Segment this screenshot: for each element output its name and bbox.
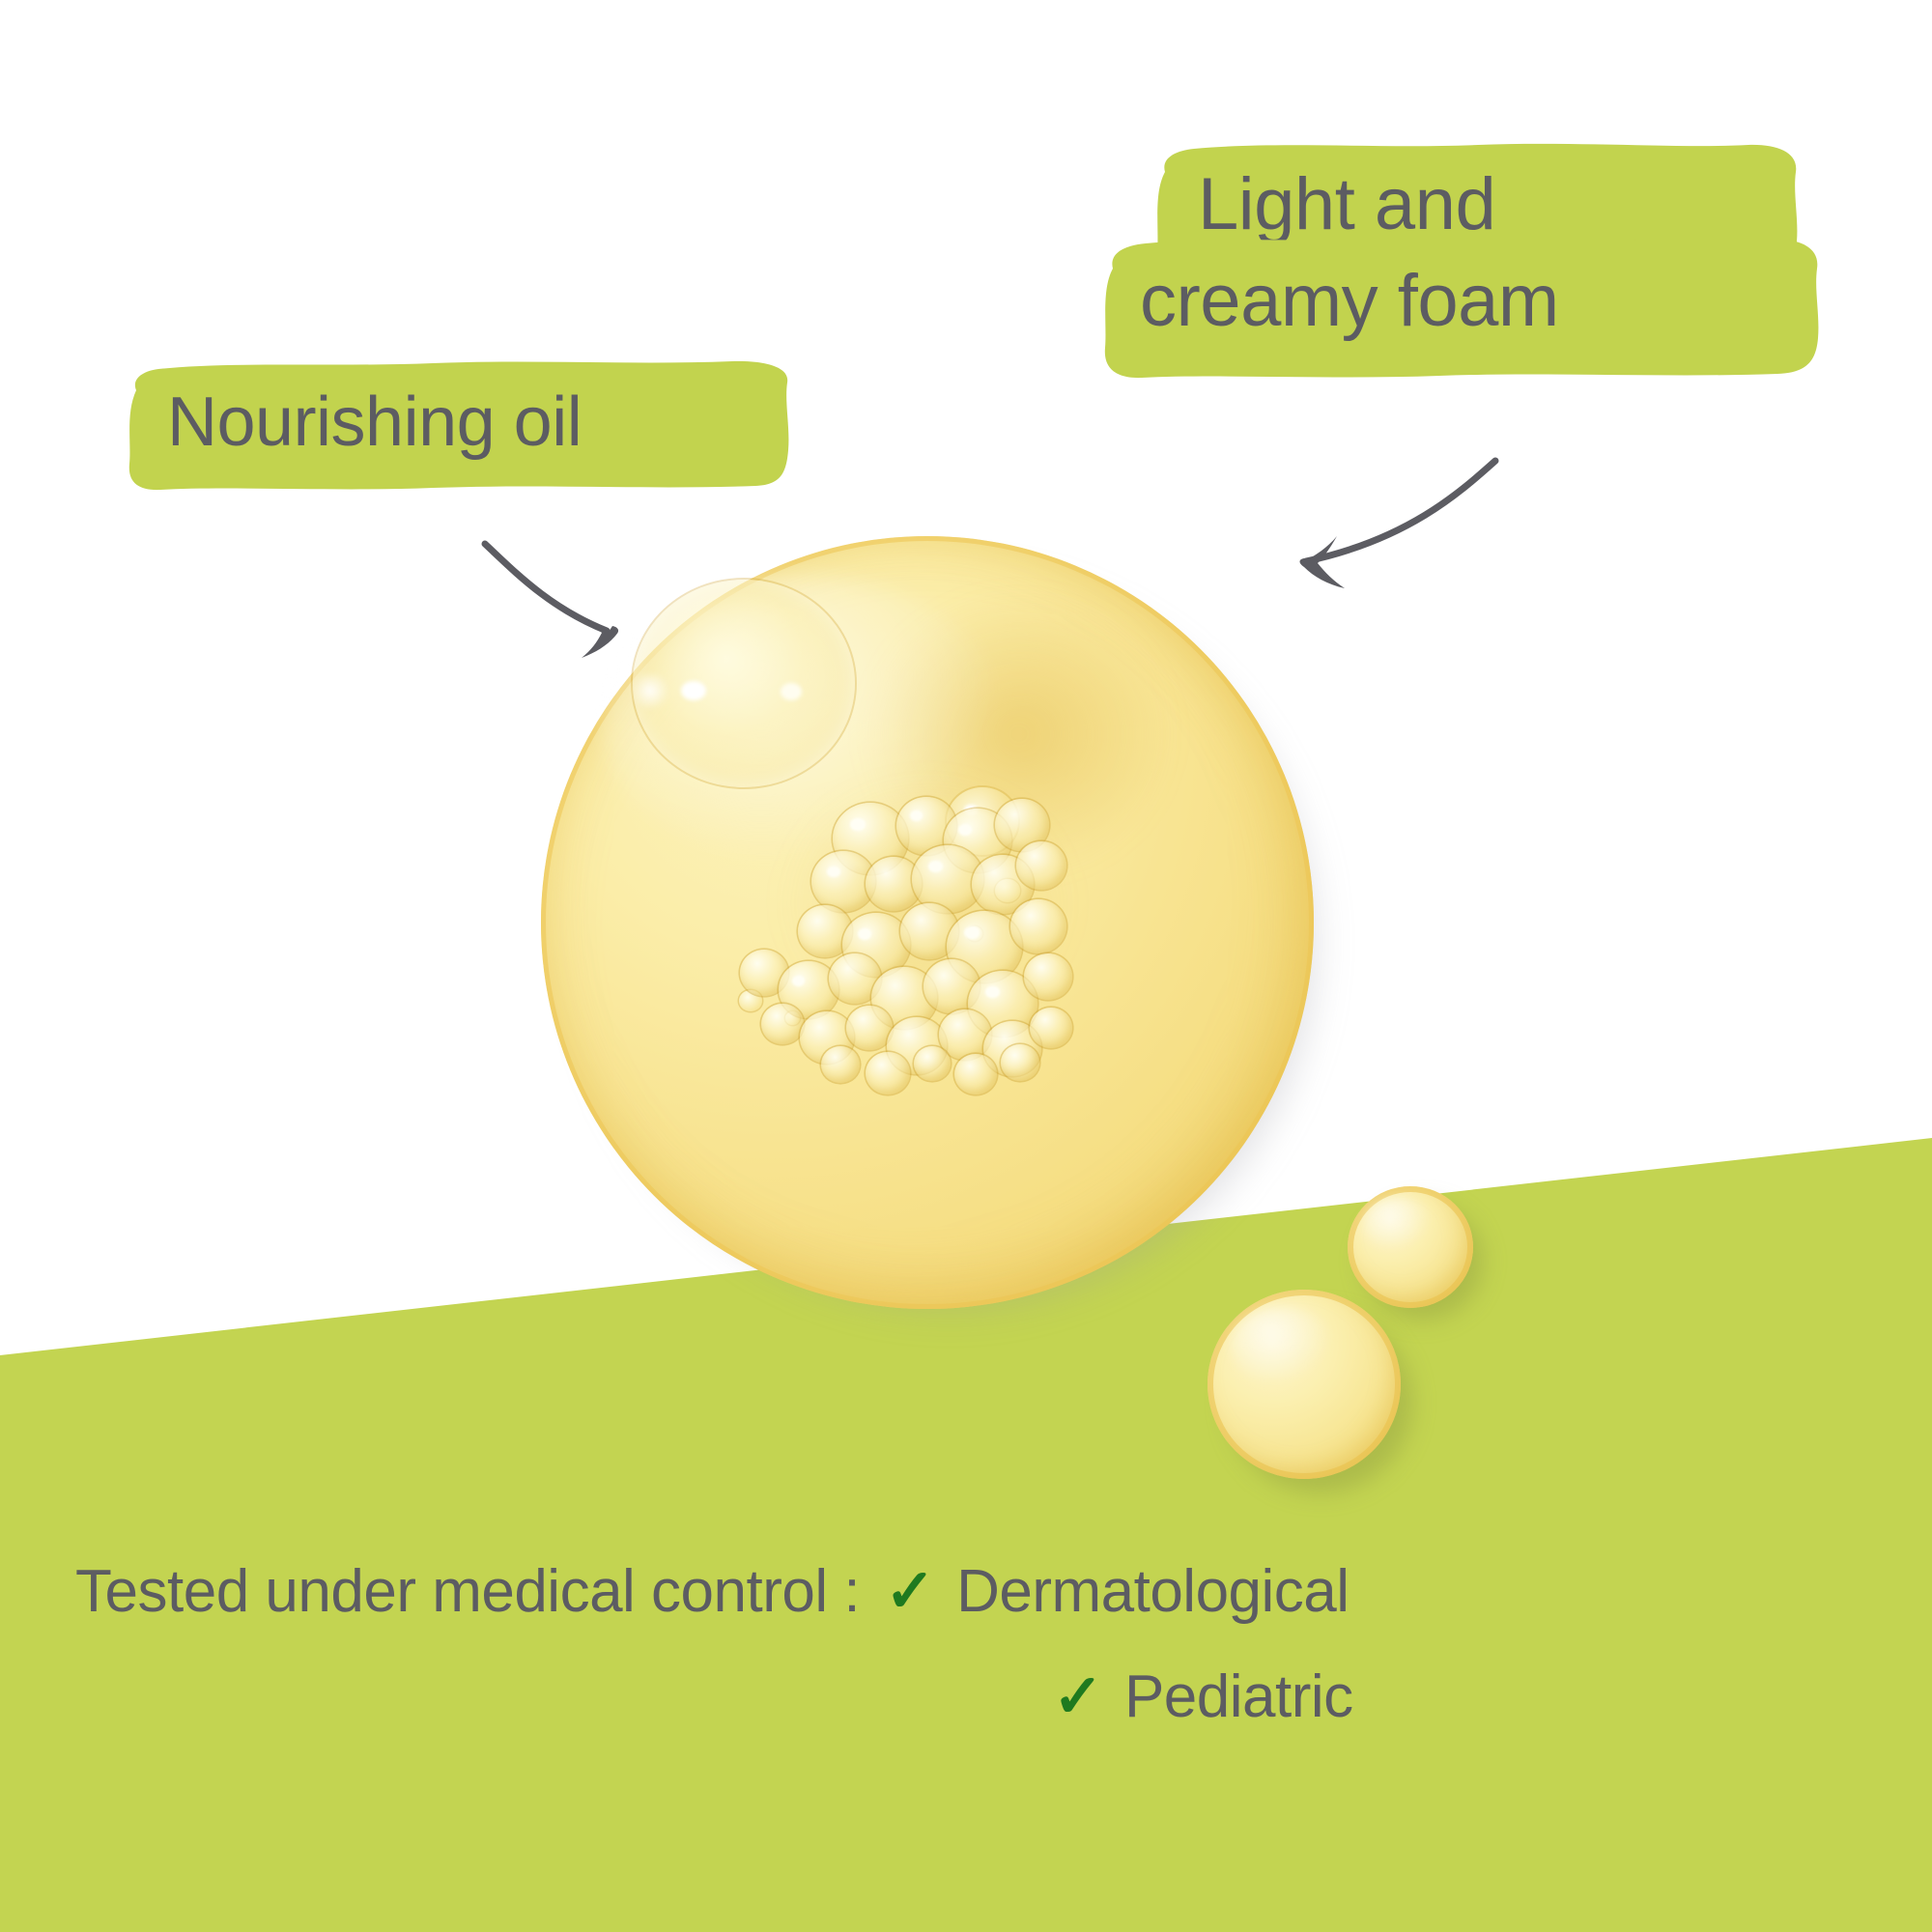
large-bubble-highlight-left xyxy=(630,671,670,710)
callout-light-foam-text-line2: creamy foam xyxy=(1140,259,1559,343)
foam-cluster xyxy=(705,797,1072,1087)
claim-row-pediatric: ✓ Pediatric xyxy=(1053,1662,1862,1731)
check-icon: ✓ xyxy=(1053,1667,1103,1727)
medical-claims-block: Tested under medical control : ✓ Dermato… xyxy=(75,1557,1862,1731)
product-claim-graphic: Nourishing oil Light and creamy foam Tes… xyxy=(0,0,1932,1932)
callout-light-foam-line2: creamy foam xyxy=(1092,230,1826,384)
curved-arrow-down-left-icon xyxy=(1236,401,1507,594)
claim-row-dermatological: Tested under medical control : ✓ Dermato… xyxy=(75,1557,1862,1626)
medium-droplet xyxy=(1207,1290,1430,1512)
claims-intro-text: Tested under medical control : xyxy=(75,1557,860,1626)
large-bubble-highlight-a xyxy=(681,681,706,700)
curved-arrow-down-right-icon xyxy=(464,526,705,671)
claim-item-pediatric: Pediatric xyxy=(1124,1662,1353,1731)
callout-nourishing-oil: Nourishing oil xyxy=(114,350,810,504)
claim-item-dermatological: Dermatological xyxy=(956,1557,1350,1626)
check-icon: ✓ xyxy=(885,1562,935,1622)
callout-nourishing-oil-text: Nourishing oil xyxy=(167,383,582,462)
large-bubble-highlight-b xyxy=(781,683,802,700)
